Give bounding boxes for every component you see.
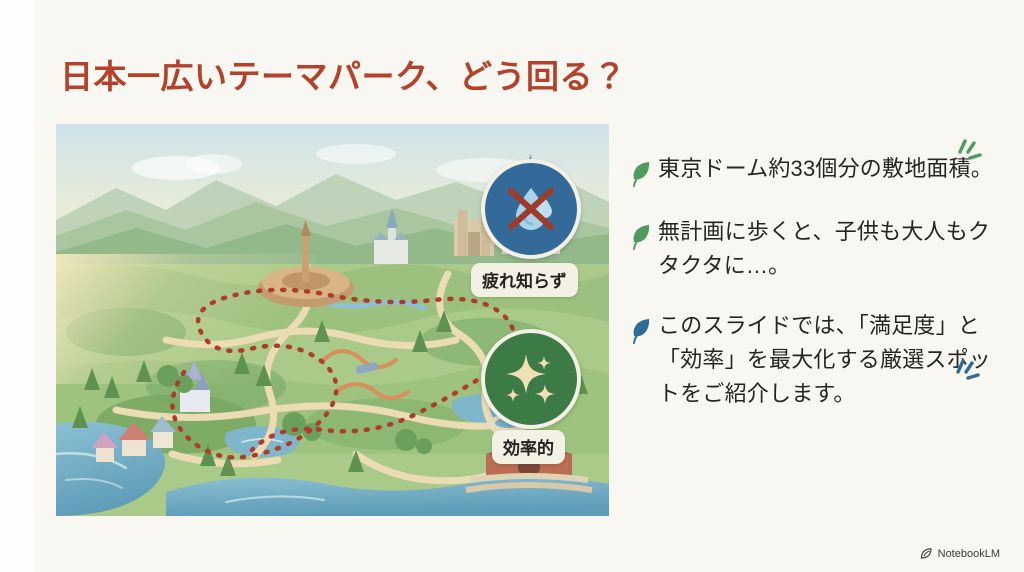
list-item: 無計画に歩くと、子供も大人もクタクタに…。 — [630, 215, 1005, 283]
notebooklm-watermark-label: NotebookLM — [938, 548, 1000, 560]
page-title: 日本一広いテーマパーク、どう回る？ — [60, 50, 627, 98]
slide-canvas: 日本一広いテーマパーク、どう回る？ — [0, 0, 1024, 572]
list-item-text: 東京ドーム約33個分の敷地面積。 — [658, 152, 993, 186]
list-item: 東京ドーム約33個分の敷地面積。 — [630, 152, 1005, 189]
notebooklm-logo-icon — [920, 547, 933, 560]
badge-tired-free-label: 疲れ知らず — [471, 263, 578, 297]
badge-efficient — [481, 329, 581, 429]
list-item-text: このスライドでは、「満足度」と「効率」を最大化する厳選スポットをご紹介します。 — [658, 309, 1005, 411]
leaf-icon — [630, 316, 652, 346]
badge-efficient-label: 効率的 — [492, 430, 565, 464]
list-item-text: 無計画に歩くと、子供も大人もクタクタに…。 — [658, 215, 1005, 283]
leaf-icon — [630, 159, 652, 189]
badge-tired-free — [481, 159, 581, 259]
leaf-icon — [630, 222, 652, 252]
sparkle-icon — [500, 348, 562, 410]
list-item: このスライドでは、「満足度」と「効率」を最大化する厳選スポットをご紹介します。 — [630, 309, 1005, 411]
notebooklm-watermark: NotebookLM — [920, 547, 1000, 560]
bullet-list: 東京ドーム約33個分の敷地面積。 無計画に歩くと、子供も大人もクタクタに…。 こ… — [630, 152, 1005, 437]
sweat-drop-crossed-out-icon — [502, 180, 560, 238]
